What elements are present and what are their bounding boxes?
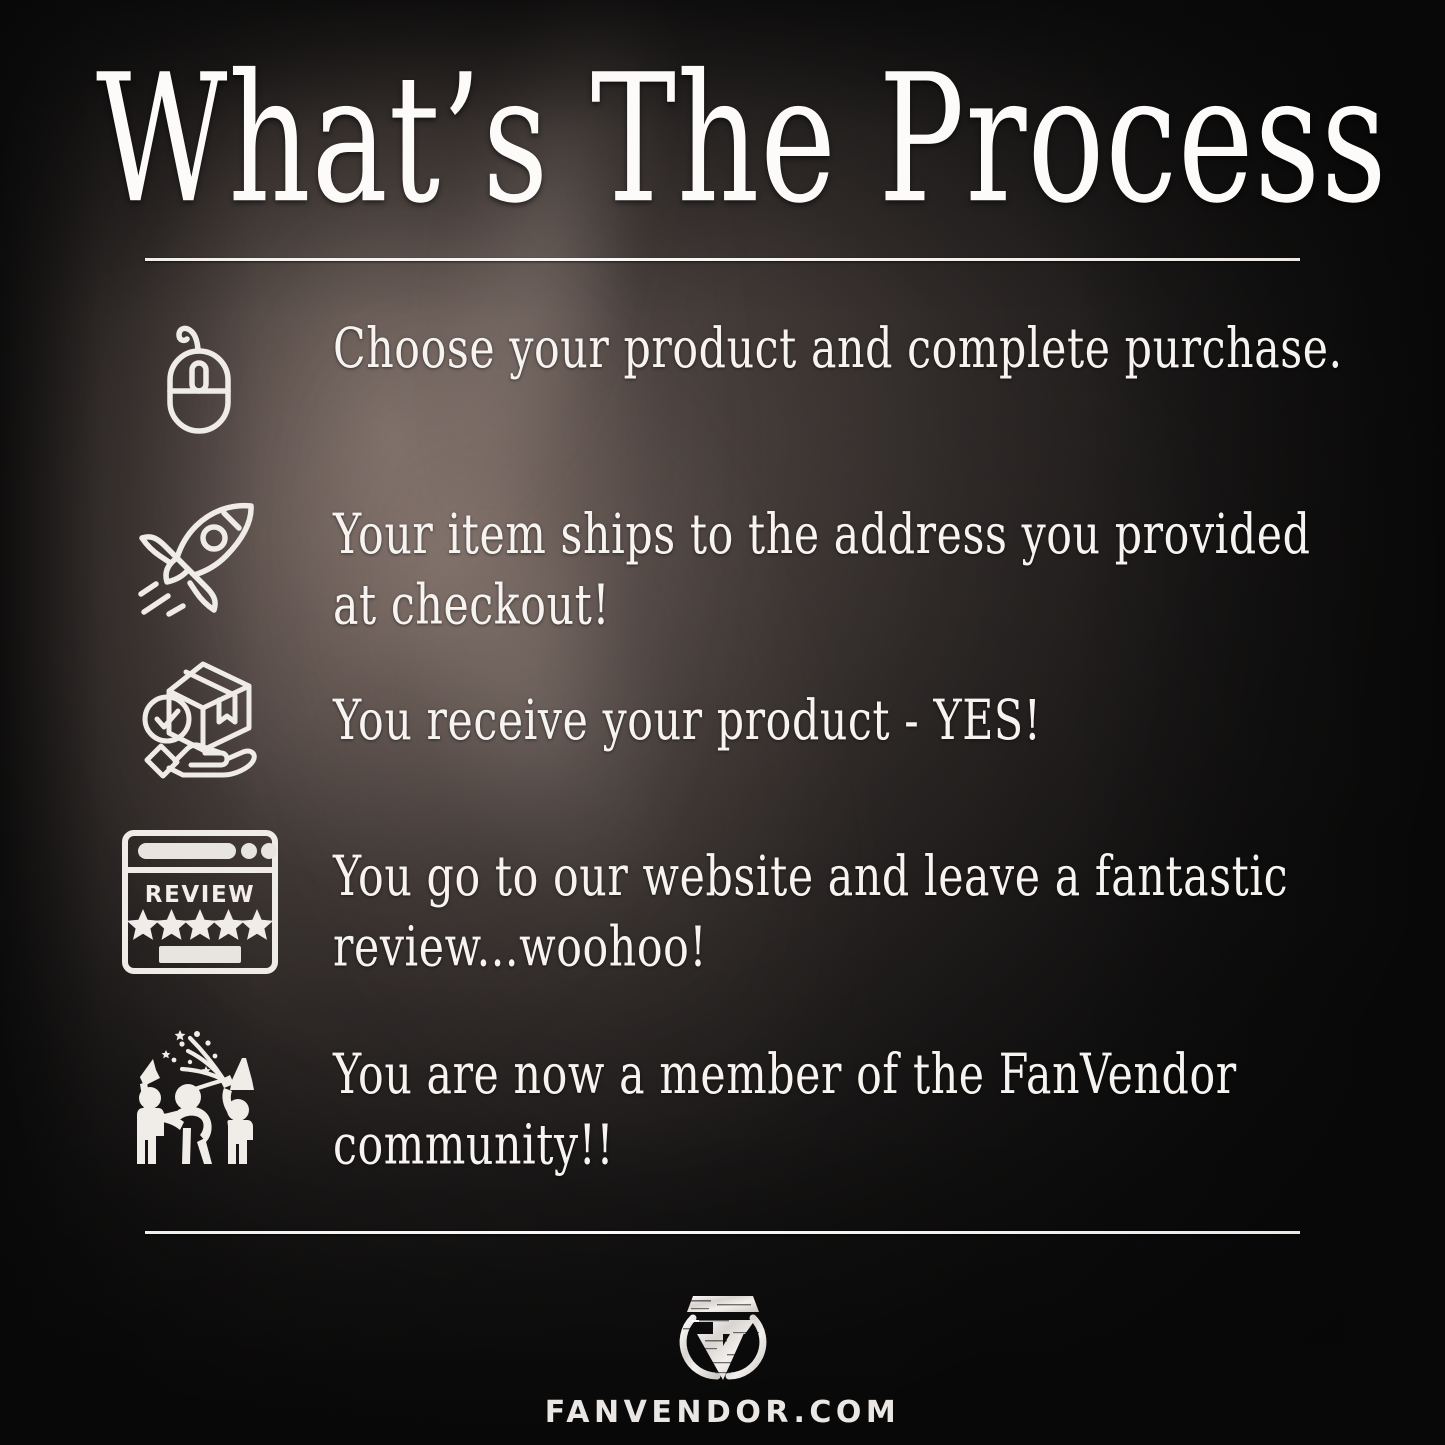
star-rating xyxy=(127,909,273,940)
poster-canvas: What’s The Process Choose your product a… xyxy=(0,0,1445,1445)
package-in-hand-check-icon xyxy=(110,656,290,780)
list-item-label: Your item ships to the address you provi… xyxy=(333,500,1361,642)
review-label: REVIEW xyxy=(145,882,255,908)
footer: FANVENDOR.COM xyxy=(0,1290,1445,1430)
celebration-people-confetti-icon xyxy=(110,1018,290,1166)
fanvendor-shield-v-logo[interactable] xyxy=(671,1290,775,1391)
bottom-divider xyxy=(145,1231,1300,1234)
list-item-label: You receive your product - YES! xyxy=(333,686,1361,757)
brand-name[interactable]: FANVENDOR.COM xyxy=(545,1395,901,1430)
page-title: What’s The Process xyxy=(96,52,1309,229)
browser-review-stars-icon: REVIEW xyxy=(110,830,290,974)
computer-mouse-icon xyxy=(110,318,290,438)
list-item-label: You are now a member of the FanVendor co… xyxy=(333,1040,1361,1182)
list-item-label: Choose your product and complete purchas… xyxy=(333,314,1361,385)
rocket-icon xyxy=(110,500,290,618)
top-divider xyxy=(145,258,1300,261)
list-item-label: You go to our website and leave a fantas… xyxy=(333,842,1361,984)
